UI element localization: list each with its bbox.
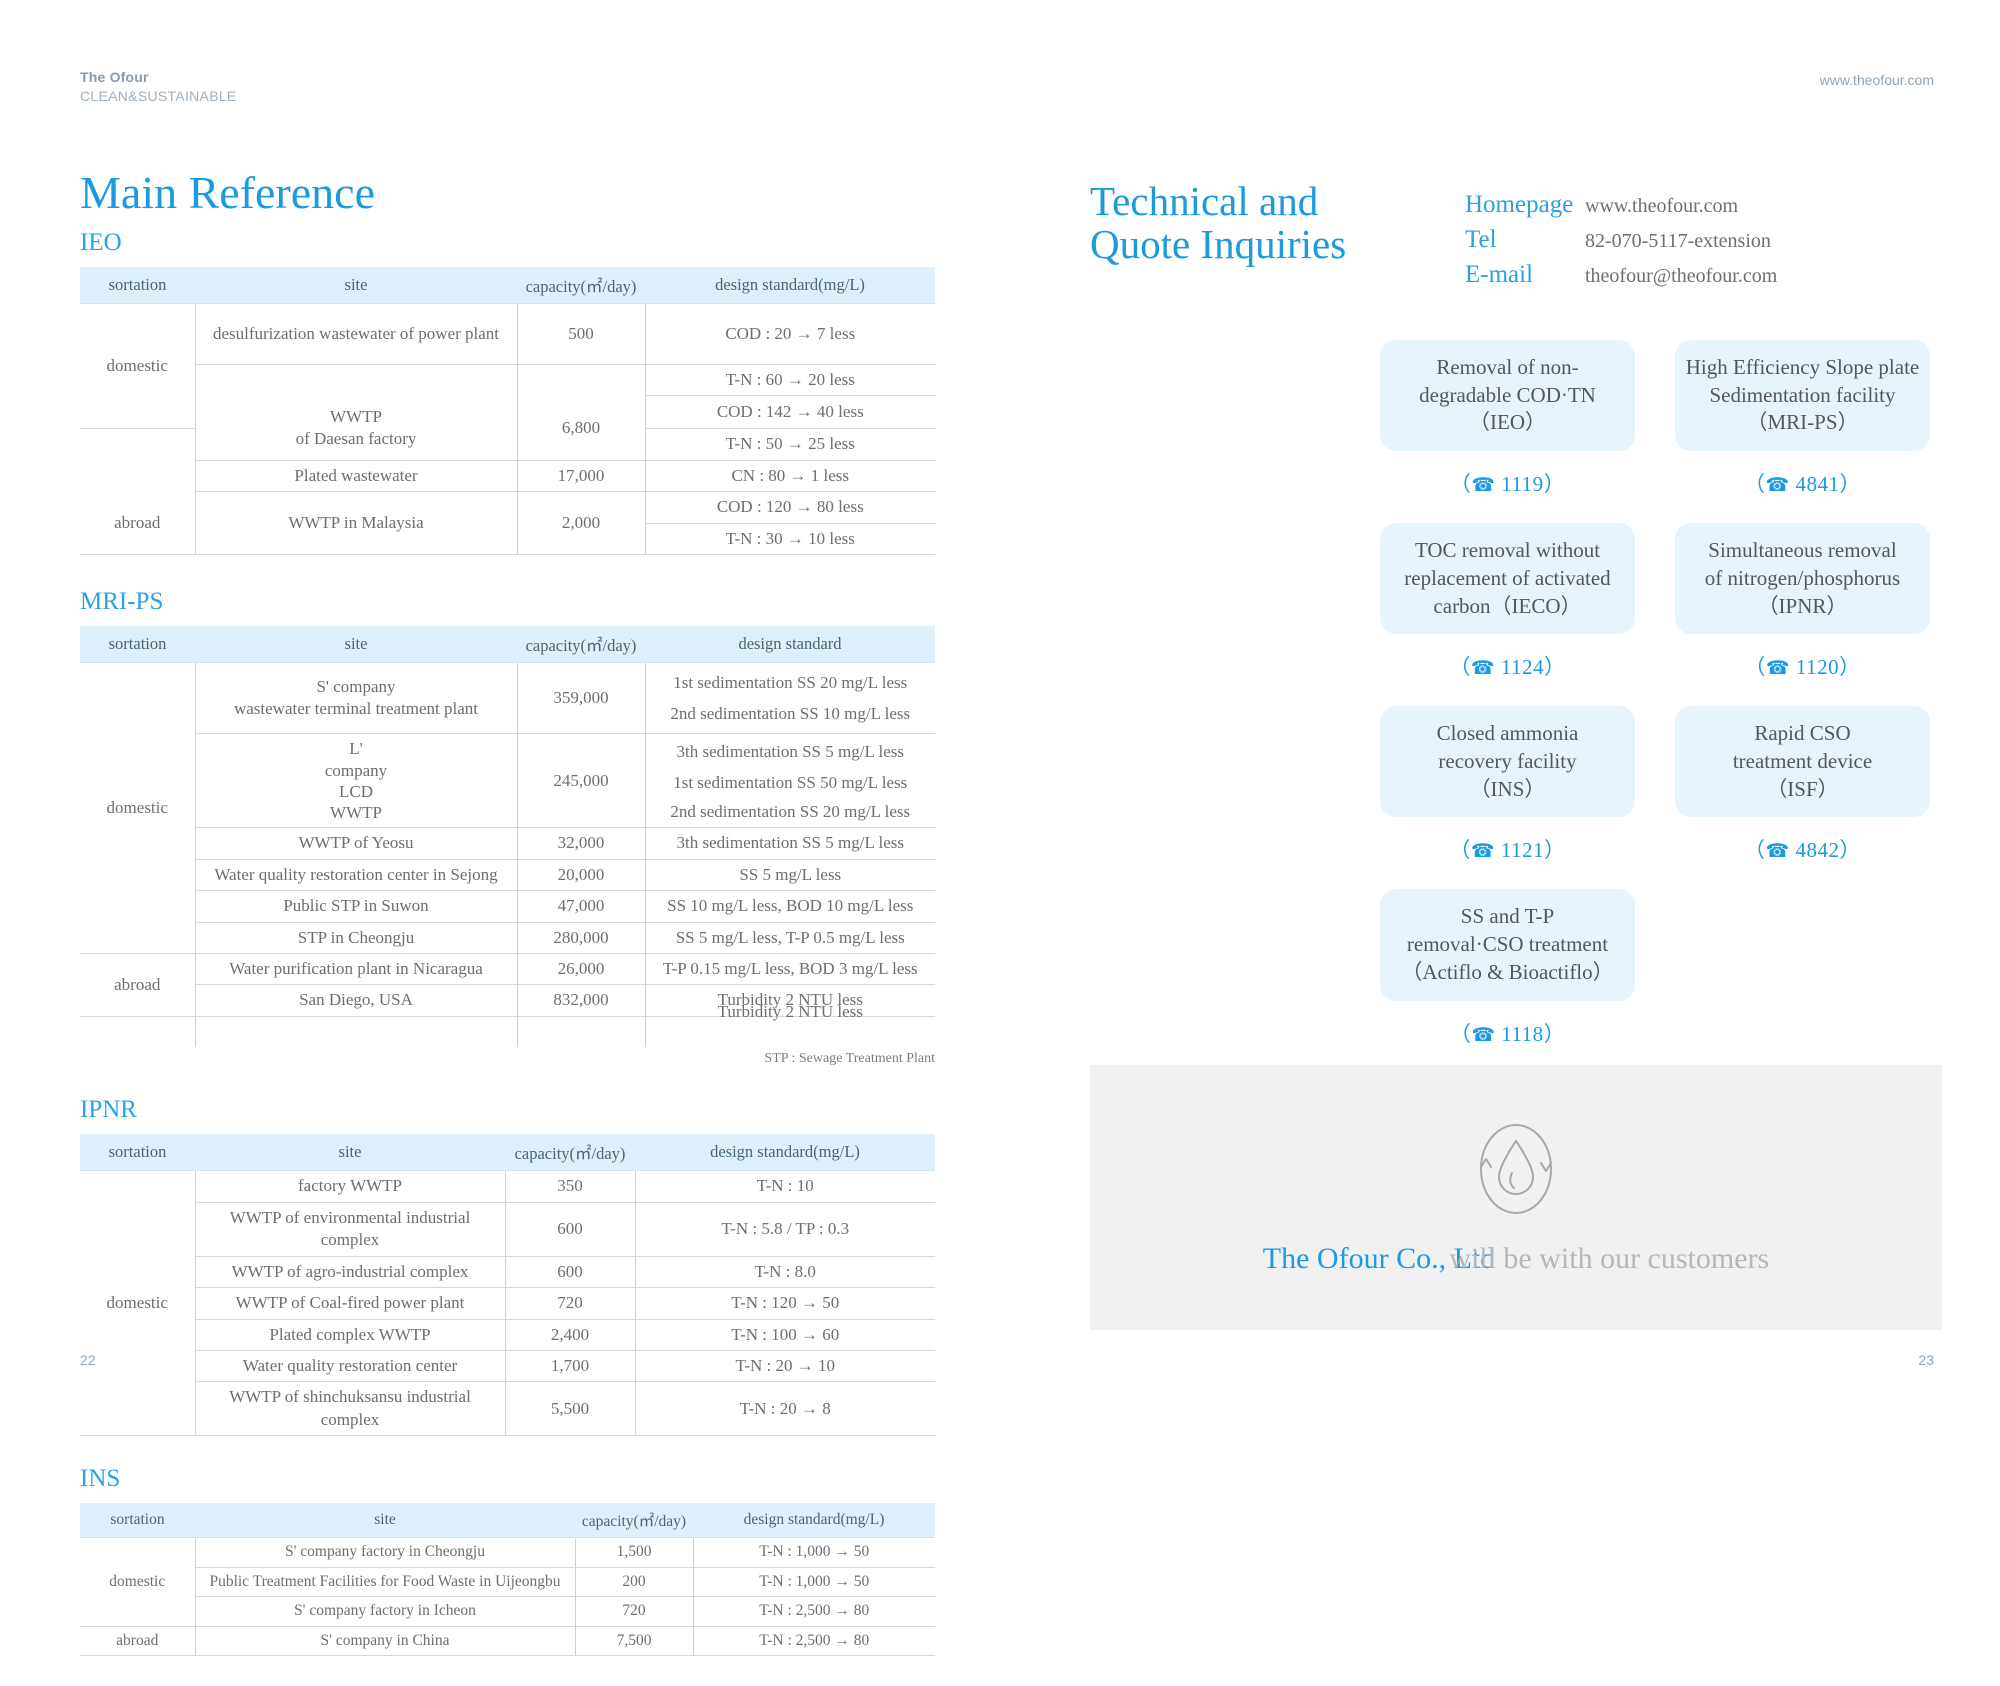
card-ipnr[interactable]: Simultaneous removal of nitrogen/phospho… bbox=[1675, 523, 1930, 634]
inquiries-title: Technical and Quote Inquiries bbox=[1090, 180, 1390, 266]
cell-spacer bbox=[80, 1016, 195, 1047]
cell-site: S' company wastewater terminal treatment… bbox=[195, 663, 517, 734]
card-extension-actiflo: 1118 bbox=[1501, 1022, 1543, 1046]
card-ins[interactable]: Closed ammonia recovery facility （INS） bbox=[1380, 706, 1635, 817]
telephone-icon: ☎ bbox=[1766, 840, 1790, 862]
cell-design-standard: T-N : 5.8 / TP : 0.3 bbox=[635, 1202, 935, 1256]
cell-capacity: 1,700 bbox=[505, 1350, 635, 1381]
contact-value-tel: 82-070-5117-extension bbox=[1585, 231, 1771, 251]
card-actiflo[interactable]: SS and T-P removal·CSO treatment （Actifl… bbox=[1380, 889, 1635, 1000]
table-header-row: sortation site capacity(㎡/day) design st… bbox=[80, 626, 935, 663]
contact-row-homepage: Homepage www.theofour.com bbox=[1465, 192, 1935, 217]
contact-value-homepage[interactable]: www.theofour.com bbox=[1585, 196, 1738, 216]
inquiries-title-line2: Quote Inquiries bbox=[1090, 223, 1390, 266]
cell-capacity: 245,000 bbox=[517, 734, 645, 828]
table-row: abroad Water purification plant in Nicar… bbox=[80, 954, 935, 985]
cell-design-standard: T-N : 100 → 60 bbox=[635, 1319, 935, 1350]
table-row: domestic S' company wastewater terminal … bbox=[80, 663, 935, 699]
cell-capacity: 350 bbox=[505, 1171, 635, 1202]
cell-site: Public Treatment Facilities for Food Was… bbox=[195, 1567, 575, 1596]
table-row: Water quality restoration center in Sejo… bbox=[80, 859, 935, 890]
telephone-icon: ☎ bbox=[1471, 1024, 1495, 1046]
cell-design-standard: SS 5 mg/L less, T-P 0.5 mg/L less bbox=[645, 922, 935, 953]
telephone-icon: ☎ bbox=[1766, 474, 1790, 496]
page-title: Main Reference bbox=[80, 170, 960, 216]
card-extension-ieo: 1119 bbox=[1501, 472, 1543, 496]
cell-site: L' company LCD WWTP bbox=[195, 734, 517, 828]
cell-design-standard: T-N : 50 → 25 less bbox=[645, 428, 935, 460]
cell-site: Plated wastewater bbox=[195, 460, 517, 491]
cell-design-standard: T-N : 1,000 → 50 bbox=[693, 1567, 935, 1596]
cell-site: WWTP of Coal-fired power plant bbox=[195, 1288, 505, 1319]
cell-site: WWTP in Malaysia bbox=[195, 492, 517, 555]
cell-sortation: abroad bbox=[80, 954, 195, 1017]
cell-capacity: 26,000 bbox=[517, 954, 645, 985]
cell-sortation: domestic bbox=[80, 304, 195, 429]
page-number-left: 22 bbox=[80, 1352, 96, 1368]
cell-spacer bbox=[195, 365, 517, 396]
cell-site: factory WWTP bbox=[195, 1171, 505, 1202]
table-note: STP : Sewage Treatment Plant bbox=[80, 1051, 935, 1067]
cell-design-standard: T-N : 8.0 bbox=[635, 1256, 935, 1287]
cell-capacity: 1,500 bbox=[575, 1538, 693, 1567]
table-row: WWTP of Yeosu 32,000 3th sedimentation S… bbox=[80, 828, 935, 859]
table-row-cont: Turbidity 2 NTU less bbox=[80, 1016, 935, 1047]
section-ieo: IEO sortation site capacity(㎡/day) desig… bbox=[80, 230, 960, 555]
col-design-standard: design standard bbox=[645, 626, 935, 663]
table-row-cont: T-N : 60 → 20 less bbox=[80, 365, 935, 396]
cell-design-standard: SS 5 mg/L less bbox=[645, 859, 935, 890]
card-number-isf: （☎ 4842） bbox=[1744, 834, 1861, 864]
cell-design-standard: T-N : 2,500 → 80 bbox=[693, 1597, 935, 1626]
cell-design-standard: 1st sedimentation SS 20 mg/L less bbox=[645, 663, 935, 699]
telephone-icon: ☎ bbox=[1471, 657, 1495, 679]
table-row: Plated wastewater 17,000 CN : 80 → 1 les… bbox=[80, 460, 935, 491]
cell-design-standard: T-N : 60 → 20 less bbox=[645, 365, 935, 396]
cell-design-standard: T-N : 20 → 10 bbox=[635, 1350, 935, 1381]
table-row: WWTP of shinchuksansu industrial complex… bbox=[80, 1382, 935, 1436]
cell-sortation: domestic bbox=[80, 1538, 195, 1626]
table-row: Plated complex WWTP 2,400 T-N : 100 → 60 bbox=[80, 1319, 935, 1350]
card-isf[interactable]: Rapid CSO treatment device （ISF） bbox=[1675, 706, 1930, 817]
card-row-1: Removal of non- degradable COD·TN （IEO） … bbox=[1380, 340, 1950, 507]
cell-site: Public STP in Suwon bbox=[195, 891, 517, 922]
card-cell-actiflo: SS and T-P removal·CSO treatment （Actifl… bbox=[1380, 889, 1635, 1056]
cell-design-standard: 1st sedimentation SS 50 mg/L less bbox=[645, 768, 935, 797]
card-extension-isf: 4842 bbox=[1795, 838, 1839, 862]
cell-design-standard: T-N : 10 bbox=[635, 1171, 935, 1202]
cell-capacity: 720 bbox=[575, 1597, 693, 1626]
card-ieco[interactable]: TOC removal without replacement of activ… bbox=[1380, 523, 1635, 634]
footer-banner: The Ofour Co., Ltdwill be with our custo… bbox=[1090, 1065, 1942, 1330]
cell-capacity: 600 bbox=[505, 1202, 635, 1256]
card-row-4: SS and T-P removal·CSO treatment （Actifl… bbox=[1380, 889, 1950, 1056]
cell-capacity: 720 bbox=[505, 1288, 635, 1319]
card-cell-ieco: TOC removal without replacement of activ… bbox=[1380, 523, 1635, 690]
contact-label-tel: Tel bbox=[1465, 227, 1585, 252]
cell-site: WWTP of shinchuksansu industrial complex bbox=[195, 1382, 505, 1436]
cell-spacer bbox=[80, 460, 195, 491]
cell-sortation: domestic bbox=[80, 663, 195, 954]
card-mri-ps[interactable]: High Efficiency Slope plate Sedimentatio… bbox=[1675, 340, 1930, 451]
section-mri-ps: MRI-PS sortation site capacity(㎡/day) de… bbox=[80, 589, 960, 1067]
cell-design-standard: T-N : 2,500 → 80 bbox=[693, 1626, 935, 1655]
col-site: site bbox=[195, 1134, 505, 1171]
table-row: WWTP of environmental industrial complex… bbox=[80, 1202, 935, 1256]
page-number-right: 23 bbox=[1918, 1352, 1934, 1368]
cell-sortation: domestic bbox=[80, 1171, 195, 1436]
contact-label-email: E-mail bbox=[1465, 262, 1585, 287]
section-title-mri-ps: MRI-PS bbox=[80, 589, 960, 614]
cell-design-standard: T-P 0.15 mg/L less, BOD 3 mg/L less bbox=[645, 954, 935, 985]
table-header-row: sortation site capacity(㎡/day) design st… bbox=[80, 267, 935, 304]
contact-block: Homepage www.theofour.com Tel 82-070-511… bbox=[1465, 192, 1935, 297]
col-site: site bbox=[195, 267, 517, 304]
cell-design-standard: COD : 120 → 80 less bbox=[645, 492, 935, 523]
reference-table-ins: sortation site capacity(㎡/day) design st… bbox=[80, 1503, 935, 1656]
card-extension-ins: 1121 bbox=[1501, 838, 1544, 862]
card-number-mri-ps: （☎ 4841） bbox=[1744, 468, 1861, 498]
card-number-ieo: （☎ 1119） bbox=[1450, 468, 1565, 498]
cell-site: S' company factory in Icheon bbox=[195, 1597, 575, 1626]
card-row-3: Closed ammonia recovery facility （INS） （… bbox=[1380, 706, 1950, 873]
left-page-content: Main Reference IEO sortation site capaci… bbox=[80, 170, 960, 1686]
cell-capacity: 2,400 bbox=[505, 1319, 635, 1350]
footer-tagline: The Ofour Co., Ltdwill be with our custo… bbox=[1090, 1242, 1942, 1276]
document-spread: The Ofour CLEAN&SUSTAINABLE www.theofour… bbox=[0, 0, 2000, 1414]
table-row: domestic S' company factory in Cheongju … bbox=[80, 1538, 935, 1567]
card-extension-ipnr: 1120 bbox=[1796, 655, 1839, 679]
col-sortation: sortation bbox=[80, 1503, 195, 1538]
table-row: WWTP of agro-industrial complex 600 T-N … bbox=[80, 1256, 935, 1287]
card-cell-ieo: Removal of non- degradable COD·TN （IEO） … bbox=[1380, 340, 1635, 507]
table-row: domestic desulfurization wastewater of p… bbox=[80, 304, 935, 365]
cell-sortation: abroad bbox=[80, 1626, 195, 1655]
inquiries-title-line1: Technical and bbox=[1090, 180, 1390, 223]
reference-table-ieo: sortation site capacity(㎡/day) design st… bbox=[80, 267, 935, 555]
contact-row-email: E-mail theofour@theofour.com bbox=[1465, 262, 1935, 287]
cell-site: Plated complex WWTP bbox=[195, 1319, 505, 1350]
contact-value-email[interactable]: theofour@theofour.com bbox=[1585, 266, 1777, 286]
section-ipnr: IPNR sortation site capacity(㎡/day) desi… bbox=[80, 1097, 960, 1436]
col-capacity: capacity(㎡/day) bbox=[575, 1503, 693, 1538]
table-row: Public STP in Suwon 47,000 SS 10 mg/L le… bbox=[80, 891, 935, 922]
cell-spacer bbox=[80, 428, 195, 460]
cell-capacity: 280,000 bbox=[517, 922, 645, 953]
col-sortation: sortation bbox=[80, 1134, 195, 1171]
cell-design-standard: 2nd sedimentation SS 20 mg/L less bbox=[645, 798, 935, 828]
cell-design-standard: Turbidity 2 NTU less bbox=[645, 996, 935, 1027]
cell-site: Water purification plant in Nicaragua bbox=[195, 954, 517, 985]
cell-design-standard: T-N : 120 → 50 bbox=[635, 1288, 935, 1319]
cell-site: WWTP of Daesan factory bbox=[195, 396, 517, 461]
col-design-standard: design standard(mg/L) bbox=[693, 1503, 935, 1538]
card-cell-mri-ps: High Efficiency Slope plate Sedimentatio… bbox=[1675, 340, 1930, 507]
cell-site: WWTP of Yeosu bbox=[195, 828, 517, 859]
card-extension-ieco: 1124 bbox=[1501, 655, 1544, 679]
cell-capacity: 17,000 bbox=[517, 460, 645, 491]
table-row: abroad S' company in China 7,500 T-N : 2… bbox=[80, 1626, 935, 1655]
contact-row-tel: Tel 82-070-5117-extension bbox=[1465, 227, 1935, 252]
telephone-icon: ☎ bbox=[1471, 840, 1495, 862]
col-site: site bbox=[195, 626, 517, 663]
cell-design-standard: COD : 142 → 40 less bbox=[645, 396, 935, 428]
cell-site: San Diego, USA bbox=[195, 985, 517, 1016]
cell-site: Water quality restoration center bbox=[195, 1350, 505, 1381]
table-header-row: sortation site capacity(㎡/day) design st… bbox=[80, 1134, 935, 1171]
cell-design-standard-multi: 2nd sedimentation SS 10 mg/L less bbox=[645, 698, 935, 734]
table-row: Water quality restoration center 1,700 T… bbox=[80, 1350, 935, 1381]
table-row: abroad WWTP in Malaysia 2,000 COD : 120 … bbox=[80, 492, 935, 523]
table-row: WWTP of Coal-fired power plant 720 T-N :… bbox=[80, 1288, 935, 1319]
cell-design-standard: T-N : 1,000 → 50 bbox=[693, 1538, 935, 1567]
brand-block: The Ofour CLEAN&SUSTAINABLE bbox=[80, 68, 237, 106]
section-title-ieo: IEO bbox=[80, 230, 960, 255]
cell-design-standard: 3th sedimentation SS 5 mg/L less bbox=[645, 828, 935, 859]
col-capacity: capacity(㎡/day) bbox=[505, 1134, 635, 1171]
cell-site: STP in Cheongju bbox=[195, 922, 517, 953]
col-design-standard: design standard(mg/L) bbox=[645, 267, 935, 304]
table-row: WWTP of Daesan factory 6,800 COD : 142 →… bbox=[80, 396, 935, 428]
footer-tagline-text: will be with our customers bbox=[1449, 1242, 1769, 1275]
cell-capacity: 600 bbox=[505, 1256, 635, 1287]
section-ins: INS sortation site capacity(㎡/day) desig… bbox=[80, 1466, 960, 1656]
cell-capacity: 32,000 bbox=[517, 828, 645, 859]
header-website-url: www.theofour.com bbox=[1820, 72, 1934, 88]
cell-design-standard: SS 10 mg/L less, BOD 10 mg/L less bbox=[645, 891, 935, 922]
card-extension-mri-ps: 4841 bbox=[1795, 472, 1839, 496]
reference-table-ipnr: sortation site capacity(㎡/day) design st… bbox=[80, 1134, 935, 1436]
table-row: domestic factory WWTP 350 T-N : 10 bbox=[80, 1171, 935, 1202]
card-ieo[interactable]: Removal of non- degradable COD·TN （IEO） bbox=[1380, 340, 1635, 451]
card-row-2: TOC removal without replacement of activ… bbox=[1380, 523, 1950, 690]
table-row: STP in Cheongju 280,000 SS 5 mg/L less, … bbox=[80, 922, 935, 953]
cell-design-standard: T-N : 20 → 8 bbox=[635, 1382, 935, 1436]
section-title-ins: INS bbox=[80, 1466, 960, 1491]
col-sortation: sortation bbox=[80, 267, 195, 304]
cell-spacer bbox=[195, 1016, 517, 1047]
card-number-ins: （☎ 1121） bbox=[1449, 834, 1565, 864]
cell-site: WWTP of agro-industrial complex bbox=[195, 1256, 505, 1287]
card-number-ieco: （☎ 1124） bbox=[1449, 651, 1565, 681]
cell-capacity: 2,000 bbox=[517, 492, 645, 555]
water-drop-cycle-icon bbox=[1468, 1117, 1564, 1225]
cell-site: S' company in China bbox=[195, 1626, 575, 1655]
cell-site: Water quality restoration center in Sejo… bbox=[195, 859, 517, 890]
card-number-actiflo: （☎ 1118） bbox=[1450, 1018, 1565, 1048]
telephone-icon: ☎ bbox=[1471, 474, 1495, 496]
reference-table-mri-ps: sortation site capacity(㎡/day) design st… bbox=[80, 626, 935, 1047]
cell-capacity: 832,000 bbox=[517, 985, 645, 1016]
cell-capacity: 5,500 bbox=[505, 1382, 635, 1436]
col-site: site bbox=[195, 1503, 575, 1538]
col-capacity: capacity(㎡/day) bbox=[517, 626, 645, 663]
table-row: Public Treatment Facilities for Food Was… bbox=[80, 1567, 935, 1596]
cell-site: WWTP of environmental industrial complex bbox=[195, 1202, 505, 1256]
card-number-ipnr: （☎ 1120） bbox=[1744, 651, 1860, 681]
cell-capacity: 200 bbox=[575, 1567, 693, 1596]
cell-design-standard: CN : 80 → 1 less bbox=[645, 460, 935, 491]
telephone-icon: ☎ bbox=[1766, 657, 1790, 679]
brand-tagline: CLEAN&SUSTAINABLE bbox=[80, 87, 237, 106]
table-row: L' company LCD WWTP 245,000 3th sediment… bbox=[80, 734, 935, 769]
cell-spacer bbox=[517, 1016, 645, 1047]
cell-capacity: 7,500 bbox=[575, 1626, 693, 1655]
table-row: S' company factory in Icheon 720 T-N : 2… bbox=[80, 1597, 935, 1626]
col-capacity: capacity(㎡/day) bbox=[517, 267, 645, 304]
logo-wrapper bbox=[1090, 1117, 1942, 1225]
brand-name: The Ofour bbox=[80, 68, 237, 87]
col-sortation: sortation bbox=[80, 626, 195, 663]
col-design-standard: design standard(mg/L) bbox=[635, 1134, 935, 1171]
section-title-ipnr: IPNR bbox=[80, 1097, 960, 1122]
card-cell-ipnr: Simultaneous removal of nitrogen/phospho… bbox=[1675, 523, 1930, 690]
cell-site: S' company factory in Cheongju bbox=[195, 1538, 575, 1567]
cell-capacity: 20,000 bbox=[517, 859, 645, 890]
cell-design-standard: T-N : 30 → 10 less bbox=[645, 523, 935, 554]
cell-capacity: 6,800 bbox=[517, 396, 645, 461]
contact-label-homepage: Homepage bbox=[1465, 192, 1585, 217]
cell-capacity: 47,000 bbox=[517, 891, 645, 922]
card-cell-ins: Closed ammonia recovery facility （INS） （… bbox=[1380, 706, 1635, 873]
cell-design-standard: COD : 20 → 7 less bbox=[645, 304, 935, 365]
cell-capacity: 359,000 bbox=[517, 663, 645, 734]
cell-capacity: 500 bbox=[517, 304, 645, 365]
cell-site: desulfurization wastewater of power plan… bbox=[195, 304, 517, 365]
table-header-row: sortation site capacity(㎡/day) design st… bbox=[80, 1503, 935, 1538]
technology-cards: Removal of non- degradable COD·TN （IEO） … bbox=[1380, 340, 1950, 1073]
cell-spacer bbox=[517, 365, 645, 396]
cell-sortation: abroad bbox=[80, 492, 195, 555]
cell-design-standard: 3th sedimentation SS 5 mg/L less bbox=[645, 734, 935, 769]
card-cell-isf: Rapid CSO treatment device （ISF） （☎ 4842… bbox=[1675, 706, 1930, 873]
